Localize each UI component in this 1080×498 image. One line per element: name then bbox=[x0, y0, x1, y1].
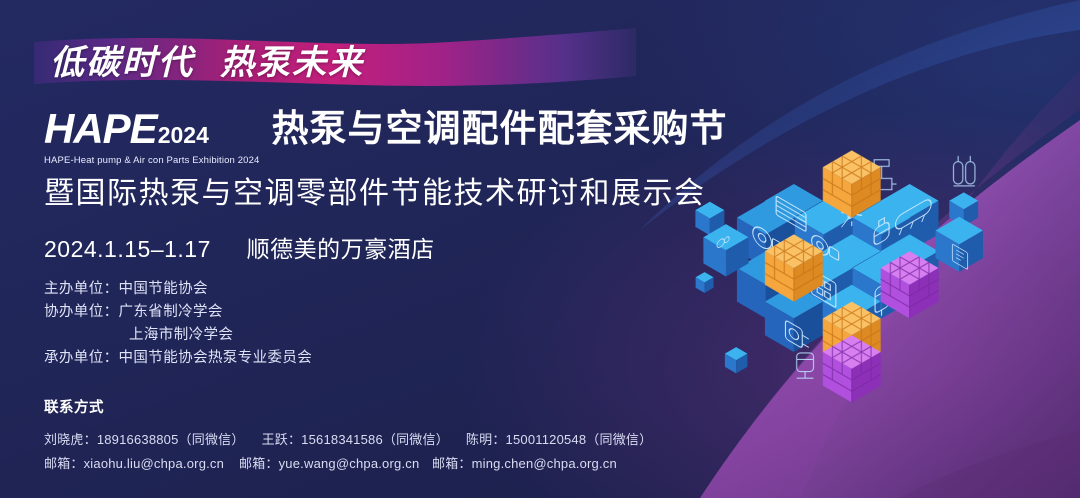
brand-year: 2024 bbox=[158, 124, 209, 147]
email-label: 邮箱： bbox=[239, 456, 279, 471]
contact-name: 陈明： bbox=[466, 432, 506, 447]
cube-blue-small bbox=[725, 347, 748, 373]
contact-person: 陈明：15001120548（同微信） bbox=[466, 428, 652, 452]
slogan-left: 低碳时代 bbox=[50, 35, 194, 84]
organizer-label: 协办单位： bbox=[44, 301, 119, 324]
cube-blue-standalone bbox=[936, 217, 983, 272]
isometric-cube-cluster-graphic bbox=[672, 128, 1024, 408]
accumulator-icon bbox=[953, 156, 974, 186]
contact-wechat-note: （同微信） bbox=[179, 432, 245, 447]
slogan-text: 低碳时代 热泵未来 bbox=[50, 30, 630, 88]
contact-phone-row: 刘晓虎：18916638805（同微信） 王跃：15618341586（同微信）… bbox=[44, 428, 669, 452]
contact-email[interactable]: xiaohu.liu@chpa.org.cn bbox=[84, 456, 224, 471]
cube-cluster-body bbox=[695, 150, 983, 402]
organizer-label: 主办单位： bbox=[44, 278, 119, 301]
contact-phone: 18916638805 bbox=[97, 432, 179, 447]
contact-name: 王跃： bbox=[262, 432, 302, 447]
contact-email-item: 邮箱：ming.chen@chpa.org.cn bbox=[432, 452, 617, 476]
contact-email-row: 邮箱：xiaohu.liu@chpa.org.cn 邮箱：yue.wang@ch… bbox=[44, 452, 669, 476]
title-row: HAPE 2024 HAPE-Heat pump & Air con Parts… bbox=[44, 108, 727, 166]
contact-email-item: 邮箱：xiaohu.liu@chpa.org.cn bbox=[44, 452, 239, 476]
organizer-value: 中国节能协会 bbox=[119, 281, 208, 297]
slogan-right: 热泵未来 bbox=[220, 35, 364, 84]
event-date: 2024.1.15–1.17 bbox=[44, 236, 211, 262]
contact-email-item: 邮箱：yue.wang@chpa.org.cn bbox=[239, 452, 432, 476]
organizer-row: 主办单位：中国节能协会 bbox=[44, 278, 312, 301]
filter-drier-icon bbox=[797, 353, 814, 378]
organizer-list: 主办单位：中国节能协会 协办单位：广东省制冷学会 上海市制冷学会 承办单位：中国… bbox=[44, 278, 312, 370]
organizer-value: 广东省制冷学会 bbox=[119, 304, 223, 320]
contact-person: 刘晓虎：18916638805（同微信） bbox=[44, 428, 245, 452]
page-title: 热泵与空调配件配套采购节 bbox=[271, 110, 727, 147]
organizer-row: 承办单位：中国节能协会热泵专业委员会 bbox=[44, 347, 312, 370]
contact-email[interactable]: yue.wang@chpa.org.cn bbox=[279, 456, 420, 471]
contact-phone: 15618341586 bbox=[301, 432, 383, 447]
cube-blue-small bbox=[696, 272, 714, 293]
organizer-value: 上海市制冷学会 bbox=[129, 327, 233, 343]
organizer-row: 协办单位：广东省制冷学会 bbox=[44, 301, 312, 324]
contact-block: 联系方式 刘晓虎：18916638805（同微信） 王跃：15618341586… bbox=[44, 396, 669, 476]
page-subtitle: 暨国际热泵与空调零部件节能技术研讨和展示会 bbox=[44, 168, 706, 212]
contact-email[interactable]: ming.chen@chpa.org.cn bbox=[472, 456, 617, 471]
contact-wechat-note: （同微信） bbox=[383, 432, 449, 447]
brand-main: HAPE 2024 bbox=[44, 108, 259, 150]
email-label: 邮箱： bbox=[432, 456, 472, 471]
brand-lockup: HAPE 2024 HAPE-Heat pump & Air con Parts… bbox=[44, 108, 259, 166]
organizer-value: 中国节能协会热泵专业委员会 bbox=[119, 350, 313, 366]
contact-name: 刘晓虎： bbox=[44, 432, 97, 447]
contact-wechat-note: （同微信） bbox=[586, 432, 652, 447]
email-label: 邮箱： bbox=[44, 456, 84, 471]
contact-person: 王跃：15618341586（同微信） bbox=[262, 428, 449, 452]
event-venue: 顺德美的万豪酒店 bbox=[247, 236, 435, 262]
date-venue: 2024.1.15–1.17 顺德美的万豪酒店 bbox=[44, 230, 435, 264]
contact-phone: 15001120548 bbox=[506, 432, 587, 447]
brand-name: HAPE bbox=[44, 108, 157, 150]
contact-heading: 联系方式 bbox=[44, 396, 669, 417]
poster-root: 低碳时代 热泵未来 HAPE 2024 HAPE-Heat pump & Air… bbox=[0, 0, 1080, 498]
brand-english-subtitle: HAPE-Heat pump & Air con Parts Exhibitio… bbox=[44, 155, 259, 166]
organizer-label: 承办单位： bbox=[44, 347, 119, 370]
organizer-row: 上海市制冷学会 bbox=[44, 324, 312, 347]
